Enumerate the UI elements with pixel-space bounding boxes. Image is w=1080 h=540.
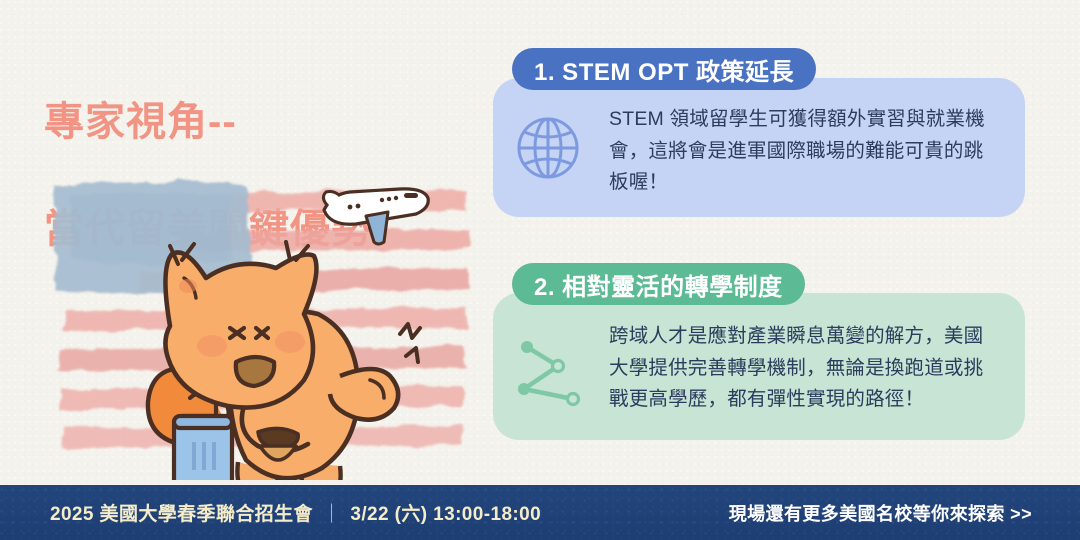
card-2-badge: 2. 相對靈活的轉學制度	[512, 263, 805, 305]
illustration	[30, 170, 485, 480]
footer-cta-link[interactable]: 現場還有更多美國名校等你來探索 >>	[729, 500, 1032, 526]
info-card-transfer-system: 2. 相對靈活的轉學制度 跨域人才是應對產業瞬息萬變的解方，美國大學提供完善轉學…	[493, 293, 1025, 440]
footer-event-title: 2025 美國大學春季聯合招生會	[50, 504, 313, 525]
footer-bar: 2025 美國大學春季聯合招生會｜3/22 (六) 13:00-18:00 現場…	[0, 485, 1080, 540]
card-1-body: STEM 領域留學生可獲得額外實習與就業機會，這將會是進軍國際職場的難能可貴的跳…	[609, 104, 999, 199]
info-card-stem-opt: 1. STEM OPT 政策延長 STEM 領域留學生可獲得額外實習與就業機會，…	[493, 78, 1025, 217]
poster-root: 專家視角-- 當代留美關鍵優勢	[0, 0, 1080, 540]
card-2-body: 跨域人才是應對產業瞬息萬變的解方，美國大學提供完善轉學機制，無論是換跑道或挑戰更…	[609, 321, 999, 416]
footer-event-info: 2025 美國大學春季聯合招生會｜3/22 (六) 13:00-18:00	[50, 499, 541, 526]
left-pane: 專家視角-- 當代留美關鍵優勢	[0, 0, 495, 485]
page-title-line-1: 專家視角--	[44, 96, 474, 150]
card-1-badge: 1. STEM OPT 政策延長	[512, 48, 816, 90]
footer-separator: ｜	[322, 504, 341, 525]
network-path-icon	[511, 333, 585, 407]
footer-event-datetime: 3/22 (六) 13:00-18:00	[350, 504, 541, 525]
globe-icon	[511, 111, 585, 185]
